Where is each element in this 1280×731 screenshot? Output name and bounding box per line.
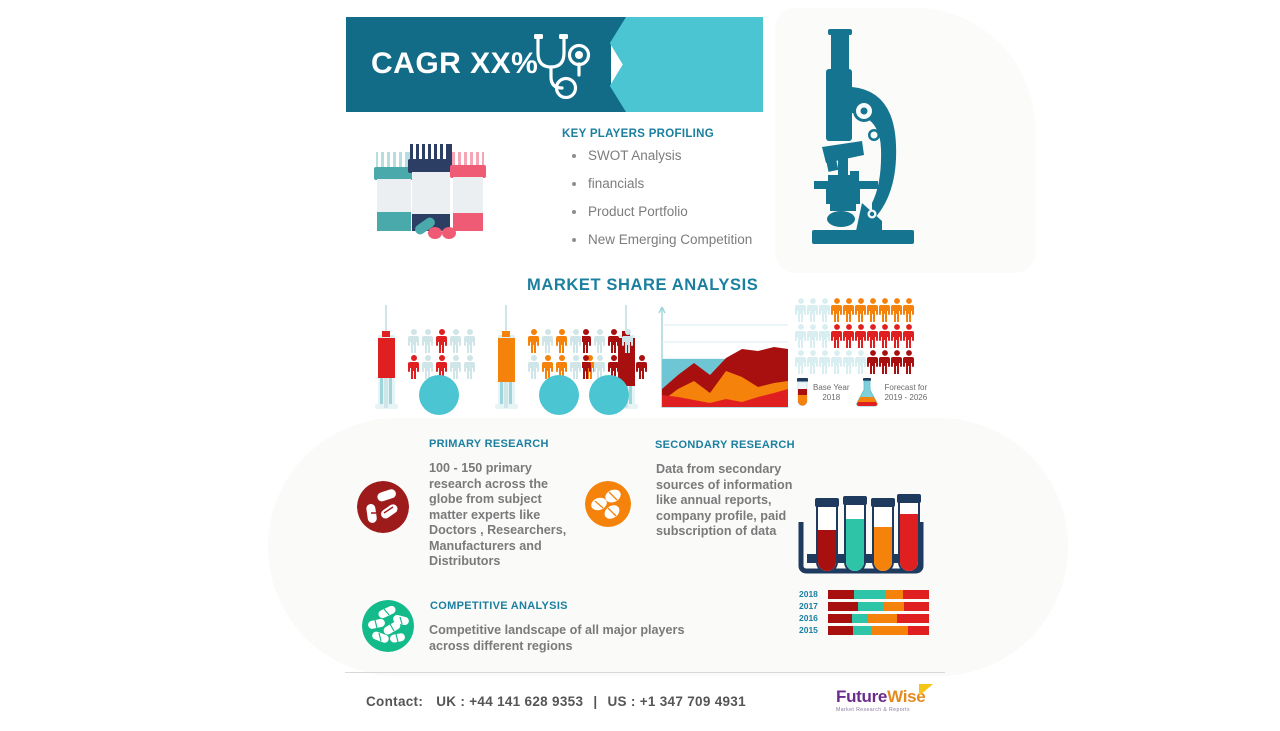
secondary-research-body: Data from secondary sources of informati… bbox=[656, 462, 798, 540]
infographic-canvas: CAGR XX% bbox=[0, 0, 1280, 731]
year-label: 2017 bbox=[799, 601, 825, 611]
primary-research-title: PRIMARY RESEARCH bbox=[429, 438, 549, 450]
list-item: Product Portfolio bbox=[566, 204, 752, 219]
futurewise-logo[interactable]: FutureWise Market Research & Reports bbox=[836, 688, 925, 713]
test-tube-icon bbox=[796, 378, 809, 408]
year-segment bbox=[828, 614, 852, 623]
legend-base-year-text: Base Year 2018 bbox=[813, 383, 849, 403]
competitive-analysis-title: COMPETITIVE ANALYSIS bbox=[430, 600, 568, 612]
population-pictogram-grid bbox=[795, 298, 915, 376]
year-track bbox=[828, 590, 929, 599]
logo-tagline: Market Research & Reports bbox=[836, 707, 925, 713]
cagr-title: CAGR XX% bbox=[371, 47, 538, 81]
year-segment bbox=[854, 590, 884, 599]
year-label: 2015 bbox=[799, 625, 825, 635]
year-segment bbox=[871, 626, 907, 635]
year-track bbox=[828, 602, 929, 611]
year-segment bbox=[828, 590, 854, 599]
list-item: New Emerging Competition bbox=[566, 232, 752, 247]
legend-line1: Forecast for bbox=[884, 383, 927, 393]
year-segment bbox=[885, 590, 903, 599]
capsules-circle-icon bbox=[357, 481, 409, 533]
year-row: 2016 bbox=[799, 613, 929, 623]
banner-light-panel bbox=[594, 17, 763, 112]
year-segment bbox=[903, 590, 929, 599]
year-segment bbox=[853, 626, 871, 635]
market-trend-area-chart bbox=[652, 303, 792, 415]
legend-line2: 2019 - 2026 bbox=[884, 393, 927, 403]
year-track bbox=[828, 614, 929, 623]
market-share-title: MARKET SHARE ANALYSIS bbox=[527, 276, 758, 295]
year-row: 2018 bbox=[799, 589, 929, 599]
contact-us: US : +1 347 709 4931 bbox=[607, 694, 745, 709]
year-segment bbox=[858, 602, 883, 611]
year-row: 2017 bbox=[799, 601, 929, 611]
year-segment bbox=[897, 614, 929, 623]
capsules-green-circle-icon bbox=[362, 600, 414, 652]
legend-line2: 2018 bbox=[813, 393, 849, 403]
primary-research-body: 100 - 150 primary research across the gl… bbox=[429, 461, 579, 570]
year-track bbox=[828, 626, 929, 635]
list-item: financials bbox=[566, 176, 752, 191]
list-item: SWOT Analysis bbox=[566, 148, 752, 163]
year-share-bars: 2018 2017 2016 bbox=[799, 589, 929, 637]
year-segment bbox=[868, 614, 896, 623]
pill-bottles-icon bbox=[372, 140, 492, 245]
year-segment bbox=[884, 602, 904, 611]
year-label: 2018 bbox=[799, 589, 825, 599]
year-segment bbox=[828, 626, 853, 635]
logo-flag-icon bbox=[919, 684, 933, 696]
chart-legend: Base Year 2018 Forecast for 2019 - 2026 bbox=[796, 378, 927, 408]
syringe3-bubble bbox=[589, 375, 629, 415]
logo-text: FutureWise bbox=[836, 688, 925, 706]
legend-item-forecast: Forecast for 2019 - 2026 bbox=[854, 378, 927, 408]
key-players-list: SWOT Analysis financials Product Portfol… bbox=[566, 148, 752, 260]
contact-line: Contact: UK : +44 141 628 9353 | US : +1… bbox=[366, 694, 746, 709]
year-segment bbox=[904, 602, 929, 611]
footer-divider bbox=[345, 672, 945, 673]
tablets-circle-icon bbox=[585, 481, 631, 527]
stethoscope-icon bbox=[530, 33, 592, 99]
contact-label: Contact: bbox=[366, 694, 423, 709]
secondary-research-title: SECONDARY RESEARCH bbox=[655, 439, 795, 451]
legend-item-base-year: Base Year 2018 bbox=[796, 378, 849, 408]
year-row: 2015 bbox=[799, 625, 929, 635]
cagr-banner: CAGR XX% bbox=[346, 17, 763, 112]
flask-icon bbox=[854, 378, 880, 408]
year-segment bbox=[828, 602, 858, 611]
year-segment bbox=[852, 614, 868, 623]
logo-part-future: Future bbox=[836, 687, 887, 706]
contact-separator: | bbox=[593, 694, 597, 709]
legend-forecast-text: Forecast for 2019 - 2026 bbox=[884, 383, 927, 403]
key-players-title: KEY PLAYERS PROFILING bbox=[562, 128, 714, 140]
contact-uk: UK : +44 141 628 9353 bbox=[436, 694, 583, 709]
microscope-icon bbox=[808, 25, 920, 255]
competitive-analysis-body: Competitive landscape of all major playe… bbox=[429, 623, 719, 654]
legend-line1: Base Year bbox=[813, 383, 849, 393]
year-segment bbox=[908, 626, 929, 635]
year-label: 2016 bbox=[799, 613, 825, 623]
test-tube-rack-icon bbox=[797, 492, 925, 580]
